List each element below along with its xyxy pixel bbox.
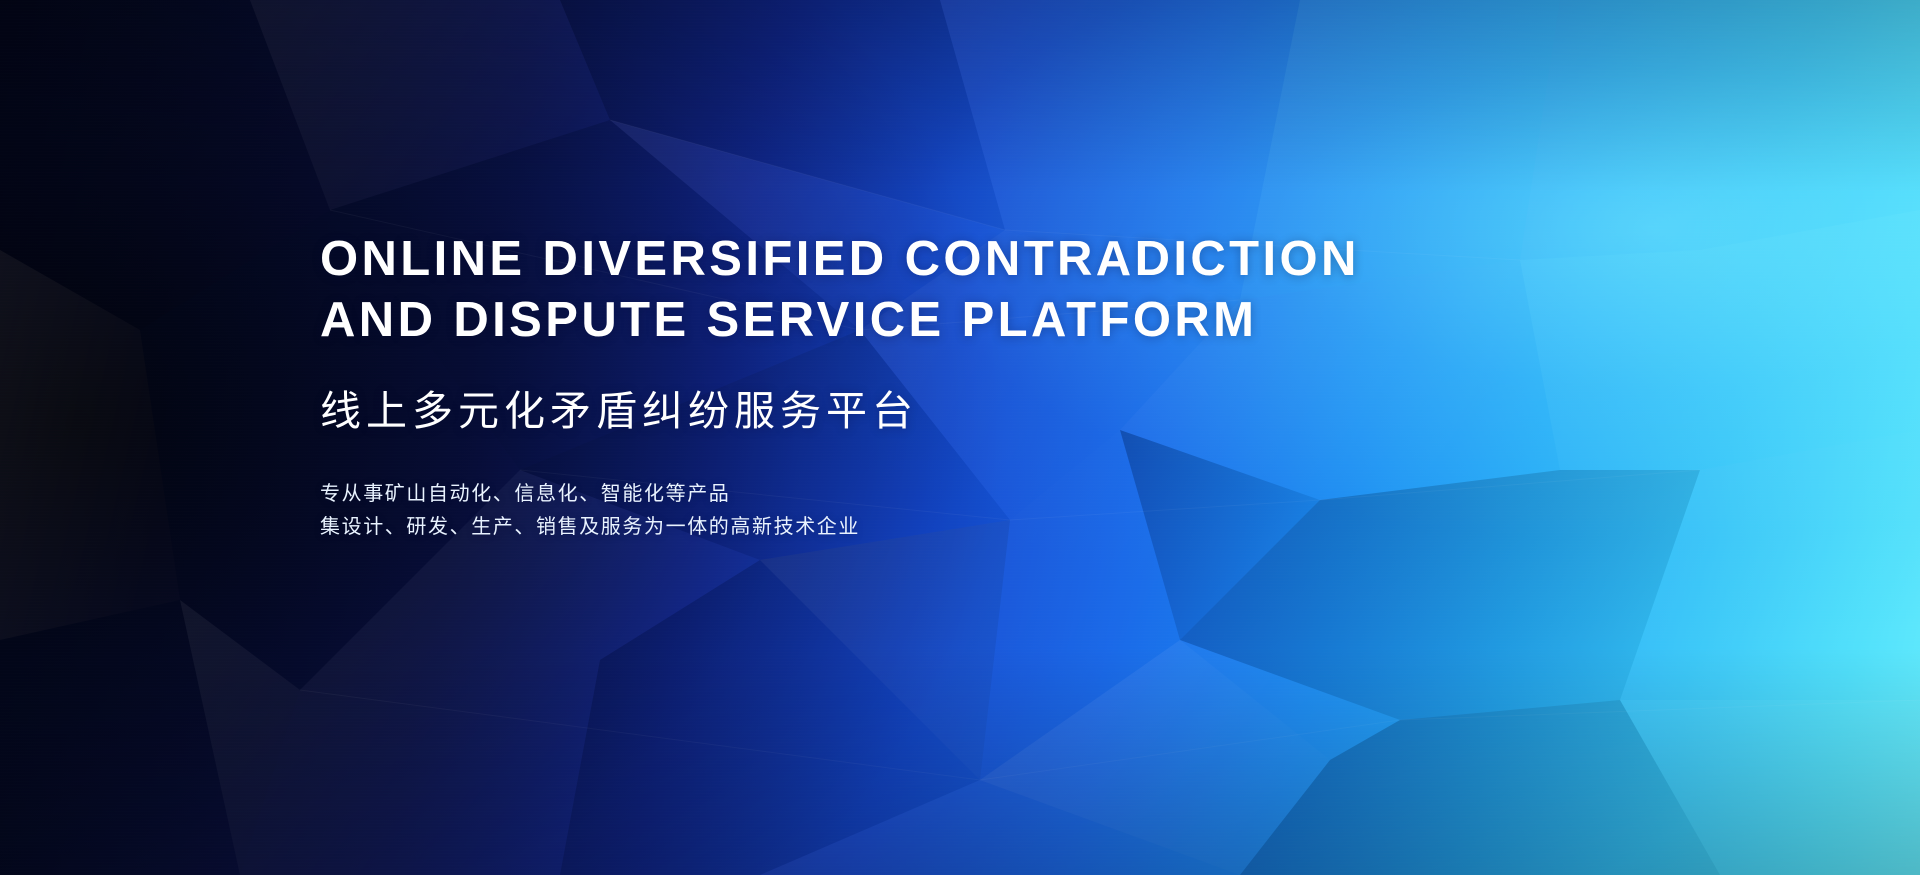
headline-line-1: ONLINE DIVERSIFIED CONTRADICTION: [320, 229, 1660, 290]
hero-banner: ONLINE DIVERSIFIED CONTRADICTION AND DIS…: [0, 0, 1920, 875]
headline-english: ONLINE DIVERSIFIED CONTRADICTION AND DIS…: [320, 229, 1660, 351]
subtitle-line-1: 专从事矿山自动化、信息化、智能化等产品: [320, 478, 1660, 511]
headline-line-2: AND DISPUTE SERVICE PLATFORM: [320, 290, 1660, 351]
banner-content: ONLINE DIVERSIFIED CONTRADICTION AND DIS…: [320, 196, 1660, 544]
subtitle-line-2: 集设计、研发、生产、销售及服务为一体的高新技术企业: [320, 511, 1660, 544]
headline-chinese: 线上多元化矛盾纠纷服务平台: [320, 384, 1660, 438]
subtitle-chinese: 专从事矿山自动化、信息化、智能化等产品 集设计、研发、生产、销售及服务为一体的高…: [320, 478, 1660, 544]
